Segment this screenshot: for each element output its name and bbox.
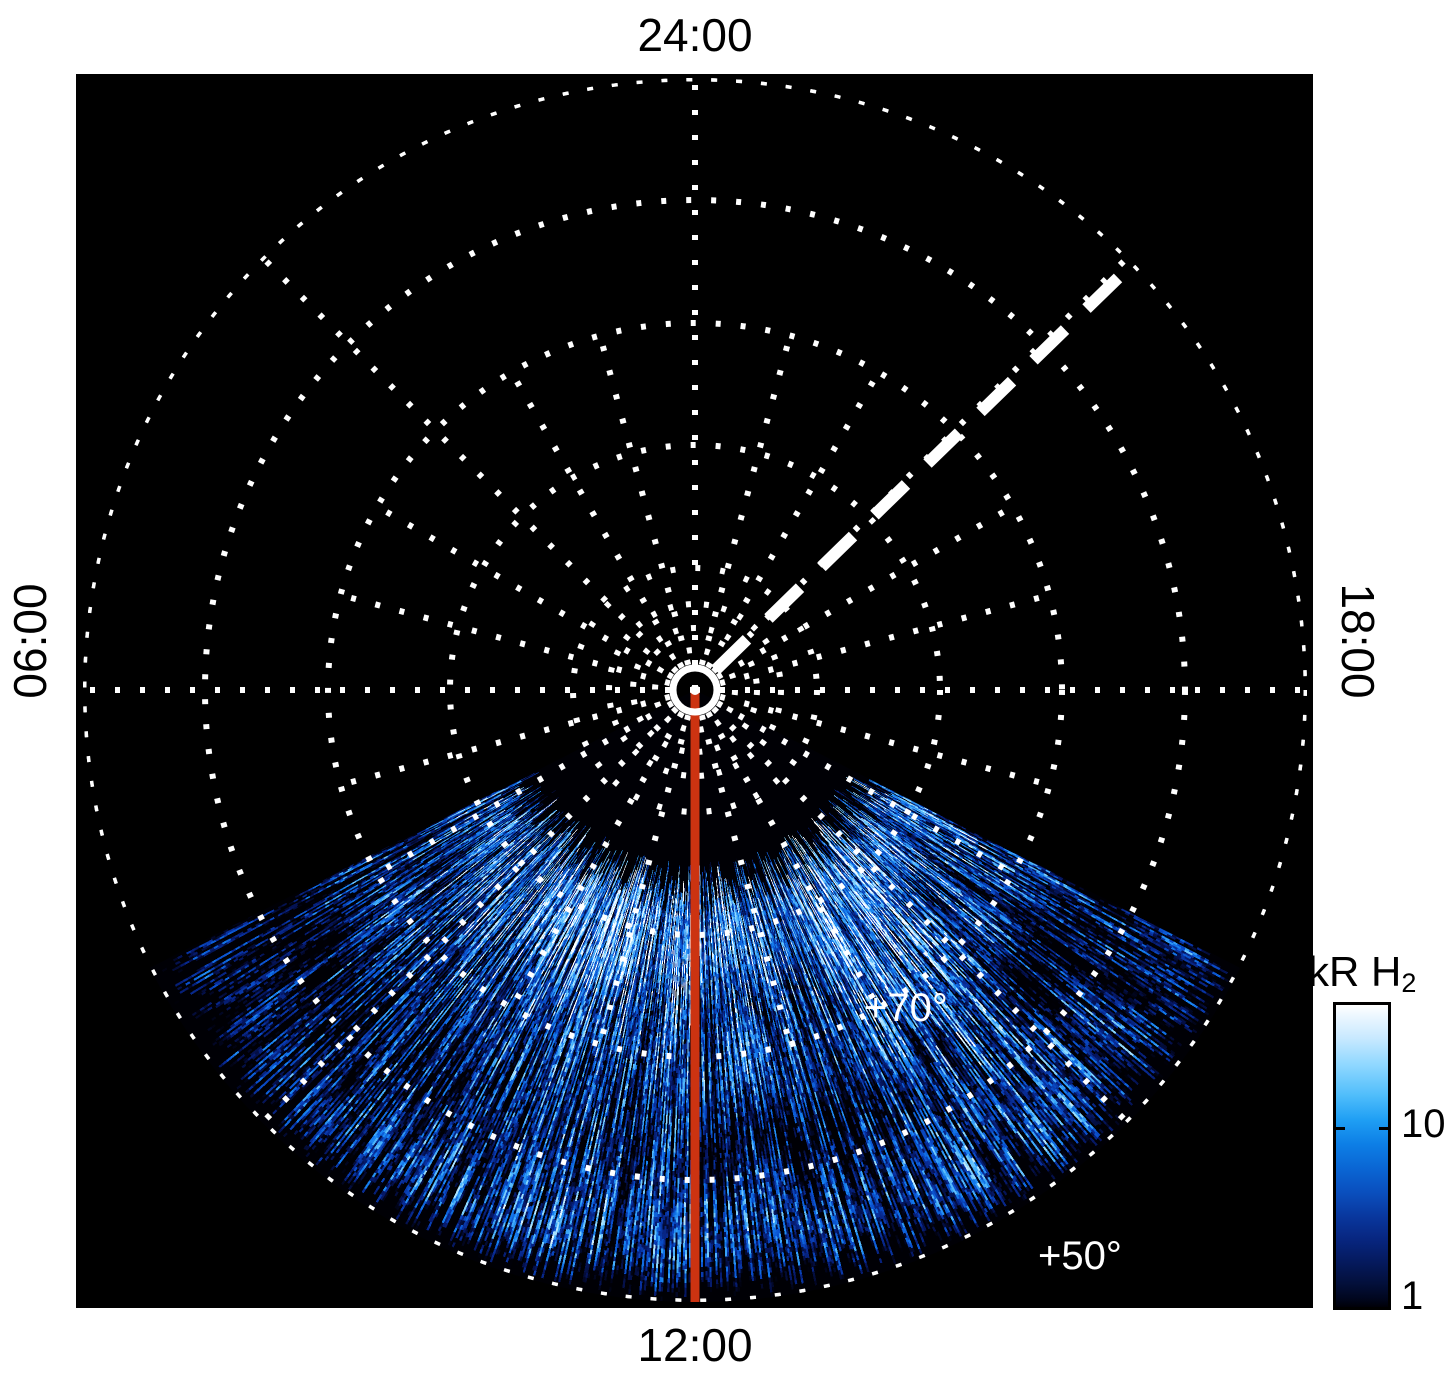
colorbar-label-1: 1 (1401, 1274, 1423, 1319)
colorbar-title-text: kR H (1308, 948, 1401, 995)
mlt-label-24: 24:00 (0, 8, 1390, 62)
colorbar[interactable]: 10 1 (1333, 1002, 1391, 1310)
mlt-label-06: 06:00 (3, 551, 57, 731)
colorbar-title: kR H2 (1308, 948, 1416, 999)
mlt-label-12: 12:00 (0, 1318, 1390, 1372)
colorbar-tick-10-left (1333, 1127, 1345, 1130)
polar-plot-svg (76, 74, 1313, 1308)
polar-plot-panel: +70° +50° (76, 74, 1313, 1308)
colorbar-gradient (1333, 1002, 1391, 1310)
latitude-label-70: +70° (864, 986, 948, 1031)
colorbar-label-10: 10 (1401, 1102, 1446, 1147)
figure-canvas: 24:00 12:00 06:00 18:00 +70° +50° kR H2 … (0, 0, 1447, 1384)
colorbar-title-subscript: 2 (1401, 968, 1416, 998)
mlt-label-18: 18:00 (1331, 551, 1385, 731)
latitude-label-50: +50° (1038, 1234, 1122, 1279)
colorbar-tick-10-right (1379, 1127, 1391, 1130)
